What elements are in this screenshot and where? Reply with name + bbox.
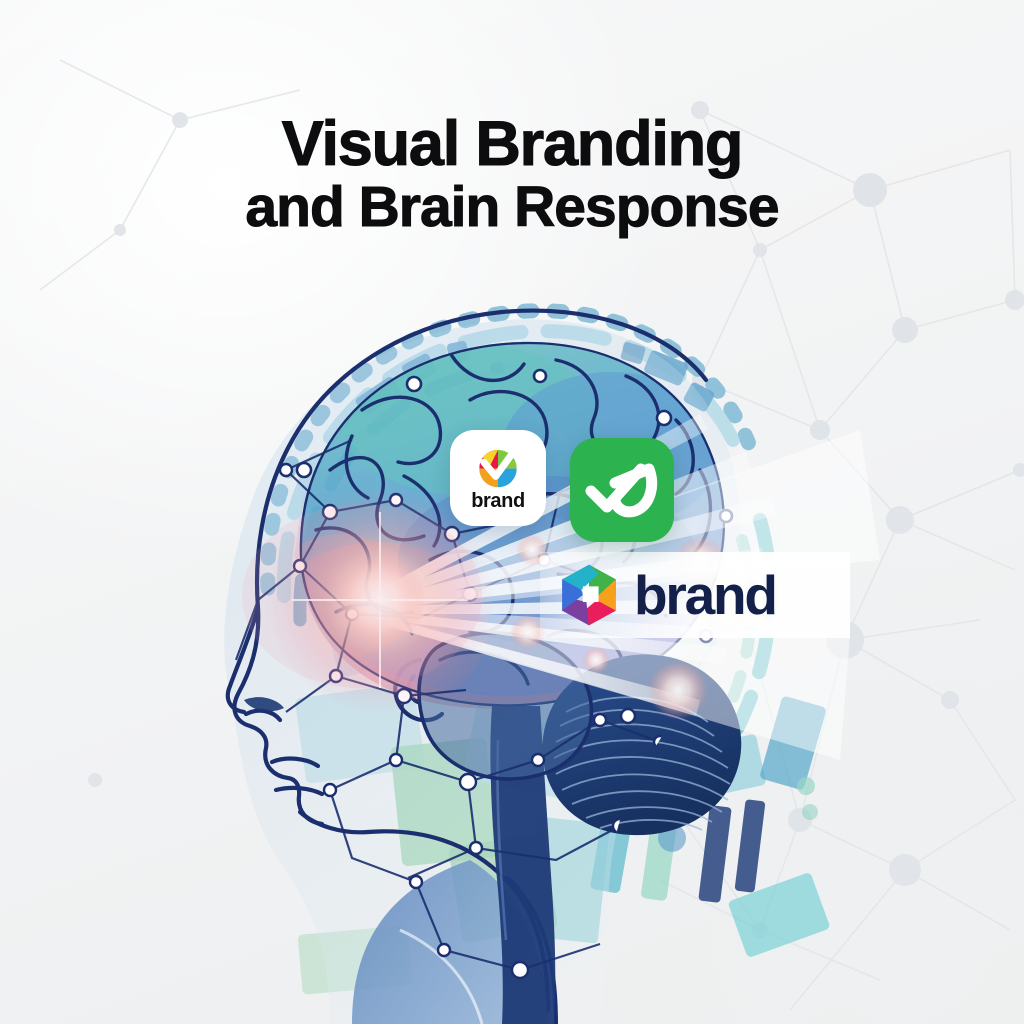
brand-tile-wordmark: brand [471, 490, 525, 513]
brand-hex-bar[interactable]: brand [540, 552, 850, 638]
hexagon-pinwheel-icon [558, 562, 620, 628]
colorful-pie-check-icon [473, 445, 523, 489]
double-check-swoosh-icon [585, 461, 659, 519]
brand-bar-wordmark: brand [634, 568, 776, 623]
poster-canvas: Visual Branding and Brain Response brand [0, 0, 1024, 1024]
temple-warm-wash [242, 504, 482, 688]
green-check-logo-tile[interactable] [570, 438, 674, 542]
brand-white-logo-tile[interactable]: brand [450, 430, 546, 526]
